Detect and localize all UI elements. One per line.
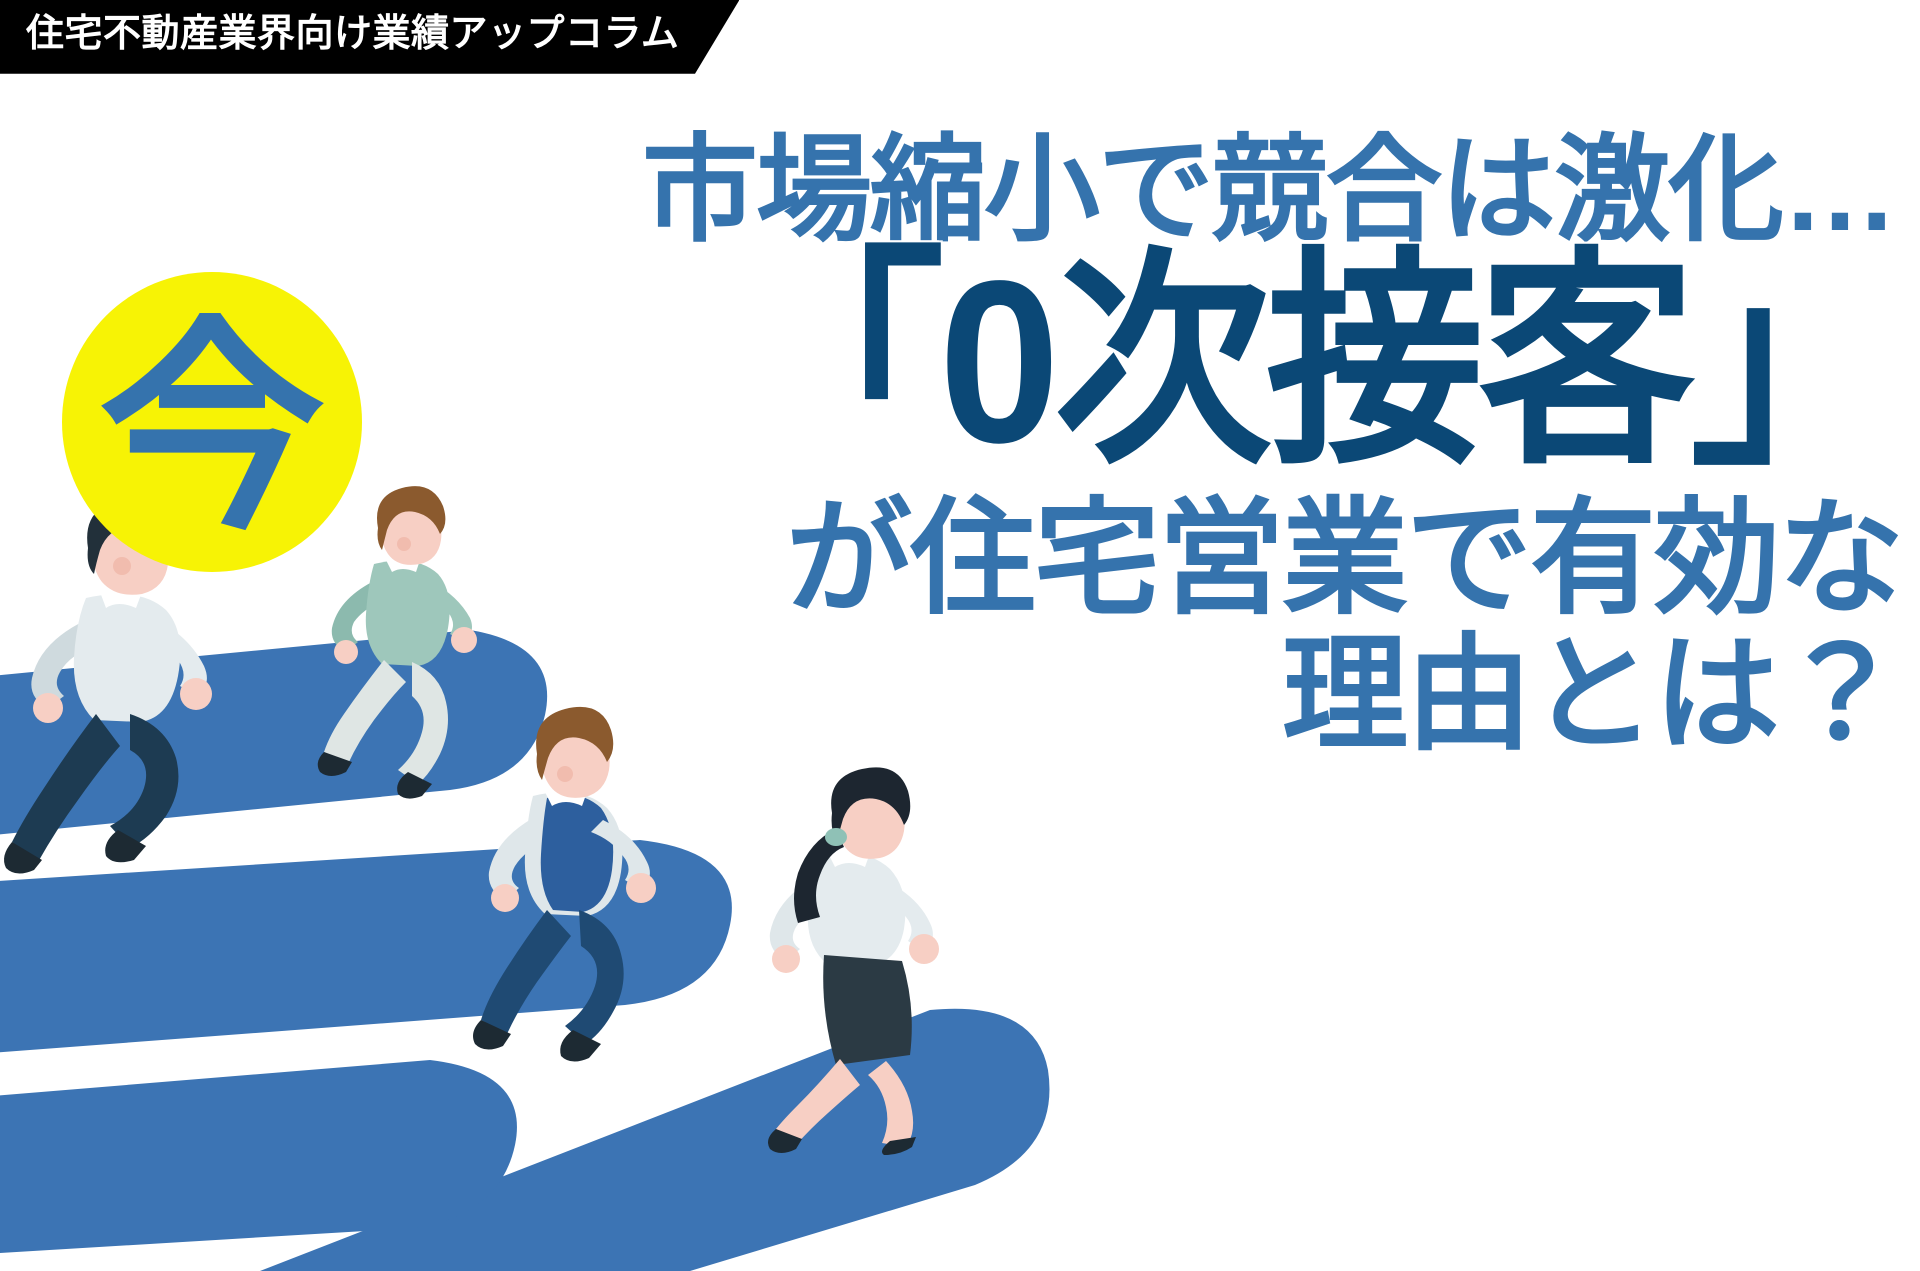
poster-canvas: 住宅不動産業界向け業績アップコラム 今 市場縮小で競合は激化… 「0次接客」 が… [0, 0, 1920, 1271]
category-ribbon: 住宅不動産業界向け業績アップコラム [0, 0, 739, 74]
runner-woman-skirt [740, 755, 990, 1155]
speech-bubble: 今 [62, 272, 362, 572]
runner-man-blue-vest [455, 690, 705, 1070]
speech-bubble-character: 今 [62, 272, 362, 572]
